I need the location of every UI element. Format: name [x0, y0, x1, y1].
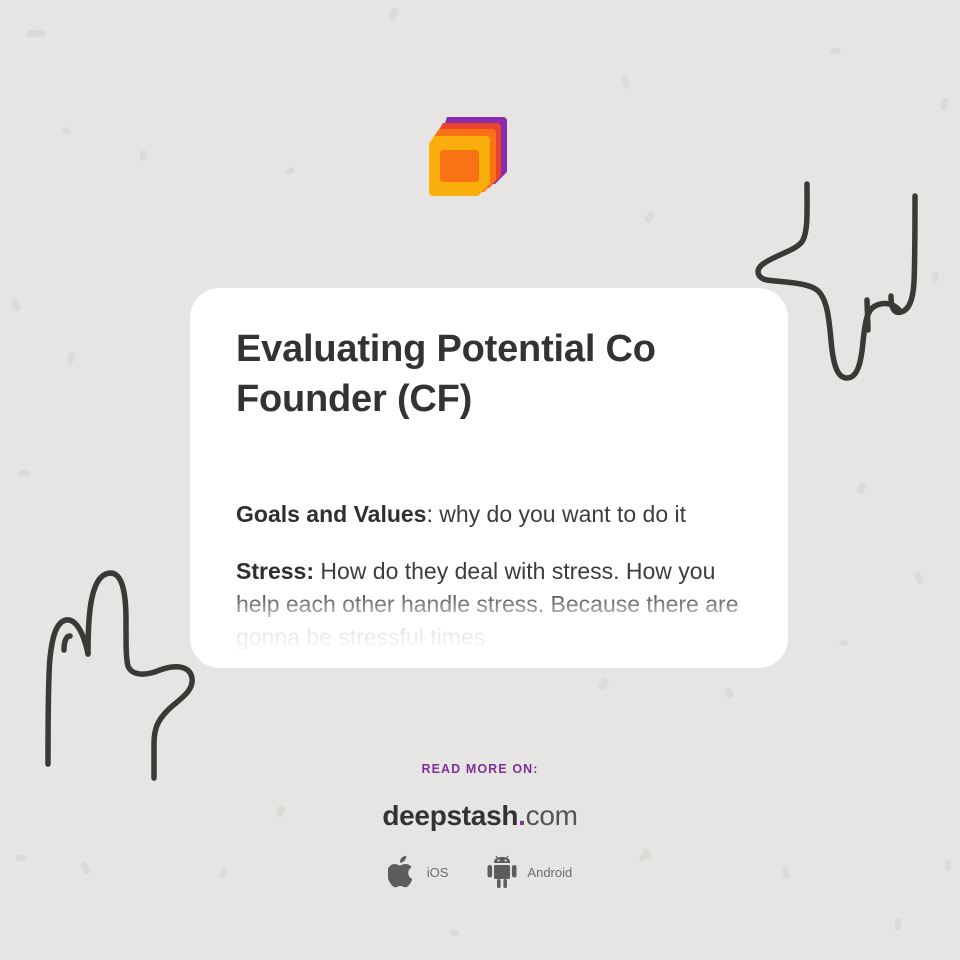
idea-paragraph-goals: Goals and Values: why do you want to do … — [236, 498, 742, 531]
android-label: Android — [527, 865, 572, 880]
confetti-speck — [914, 571, 924, 584]
confetti-speck — [830, 47, 842, 54]
brand-dot: . — [518, 800, 525, 831]
confetti-speck — [621, 75, 631, 89]
confetti-speck — [18, 469, 30, 476]
card-title: Evaluating Potential Co Founder (CF) — [236, 324, 706, 424]
card-body: Goals and Values: why do you want to do … — [236, 498, 742, 654]
confetti-speck — [139, 149, 147, 161]
confetti-speck — [67, 352, 75, 365]
confetti-speck — [10, 299, 22, 312]
confetti-speck — [284, 166, 296, 175]
confetti-speck — [597, 677, 610, 691]
apple-icon — [388, 854, 418, 890]
app-store-links: iOS And — [0, 854, 960, 890]
confetti-speck — [894, 918, 902, 931]
android-icon — [486, 855, 518, 889]
deepstash-logo — [425, 100, 525, 200]
confetti-speck — [939, 97, 949, 110]
confetti-speck — [61, 126, 71, 135]
pointing-up-hand-icon — [18, 558, 208, 788]
confetti-speck — [644, 211, 656, 224]
idea-label-stress: Stress: — [236, 558, 314, 584]
ios-store-link[interactable]: iOS — [388, 854, 449, 890]
read-more-label: READ MORE ON: — [0, 762, 960, 776]
confetti-speck — [26, 30, 46, 38]
page-root: Evaluating Potential Co Founder (CF) Goa… — [0, 0, 960, 960]
confetti-speck — [388, 7, 399, 21]
brand-tld: com — [526, 800, 578, 831]
confetti-speck — [725, 687, 735, 700]
idea-label-goals: Goals and Values — [236, 501, 426, 527]
android-store-link[interactable]: Android — [486, 855, 572, 889]
idea-paragraph-stress: Stress: How do they deal with stress. Ho… — [236, 555, 742, 654]
confetti-speck — [838, 639, 848, 647]
confetti-speck — [450, 930, 459, 937]
brand-wordmark: deepstash.com — [0, 800, 960, 832]
ios-label: iOS — [427, 865, 449, 880]
footer: READ MORE ON: deepstash.com iOS — [0, 762, 960, 890]
content-card: Evaluating Potential Co Founder (CF) Goa… — [190, 288, 788, 668]
card-inner: Evaluating Potential Co Founder (CF) Goa… — [190, 288, 788, 654]
brand-name: deepstash — [382, 800, 518, 831]
confetti-speck — [856, 481, 868, 495]
idea-text-goals: why do you want to do it — [433, 501, 686, 527]
